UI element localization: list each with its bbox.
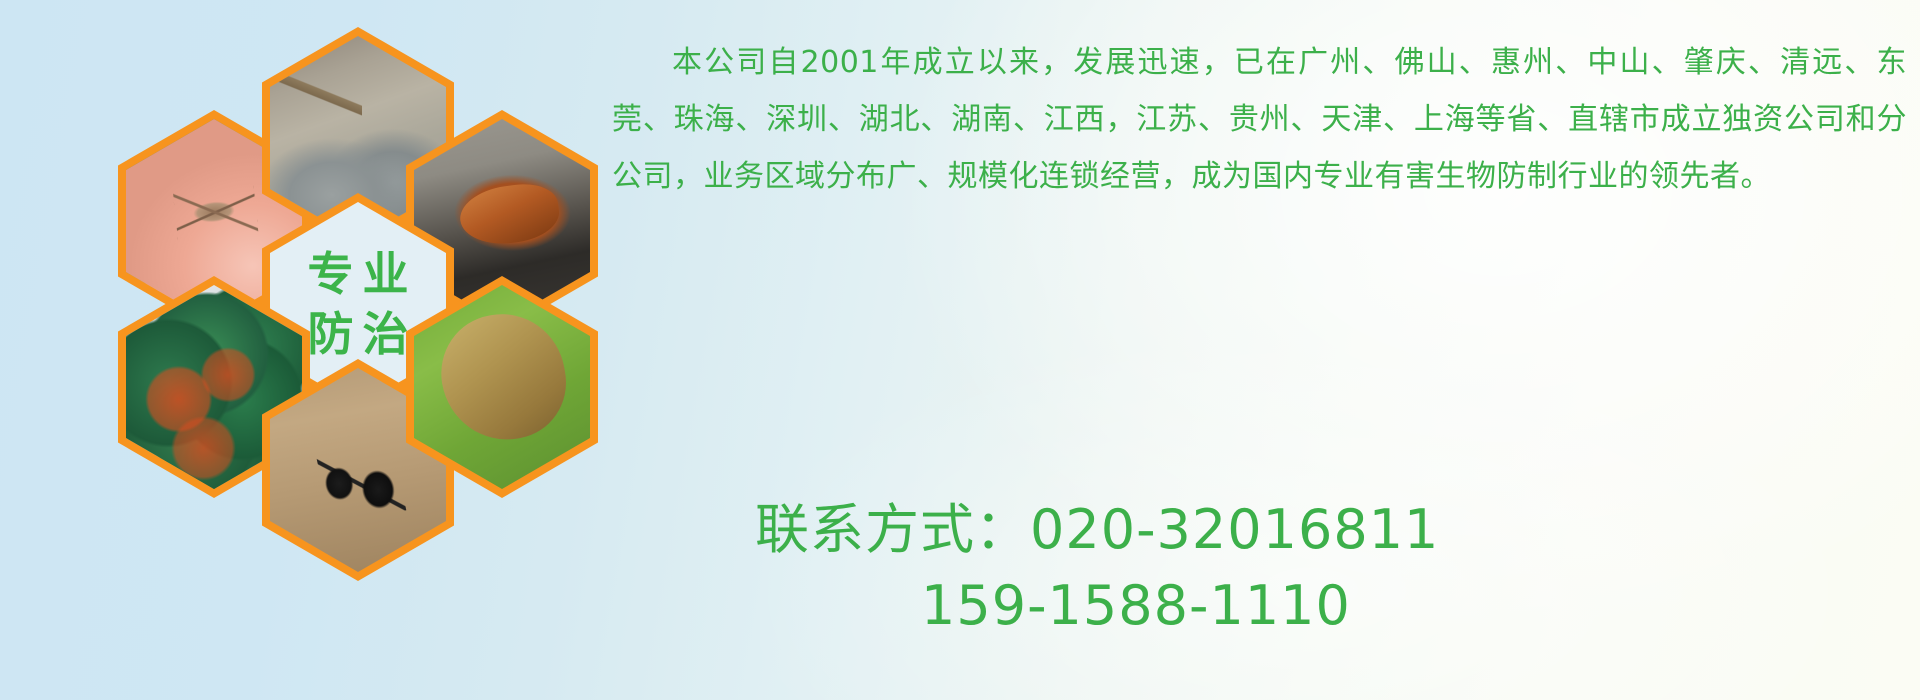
company-intro-paragraph: 本公司自2001年成立以来，发展迅速，已在广州、佛山、惠州、中山、肇庆、清远、东… xyxy=(612,34,1907,205)
contact-phone-landline[interactable]: 联系方式：020-32016811 xyxy=(755,492,1755,568)
hex-image-frame xyxy=(414,285,590,489)
contact-block: 联系方式：020-32016811 159-1588-1110 xyxy=(755,492,1755,644)
copy-column: 本公司自2001年成立以来，发展迅速，已在广州、佛山、惠州、中山、肇庆、清远、东… xyxy=(612,34,1912,205)
slogan-line-1: 专业 xyxy=(299,247,418,301)
honeycomb-gallery: 专业 防治 xyxy=(0,0,620,700)
contact-phone-mobile[interactable]: 159-1588-1110 xyxy=(755,568,1755,644)
promo-banner: 专业 防治 本公司自2001年成立以来，发展迅速，已在广州、佛山、惠州、中 xyxy=(0,0,1920,700)
stinkbug-photo xyxy=(414,285,590,489)
slogan-line-2: 防治 xyxy=(299,307,418,361)
